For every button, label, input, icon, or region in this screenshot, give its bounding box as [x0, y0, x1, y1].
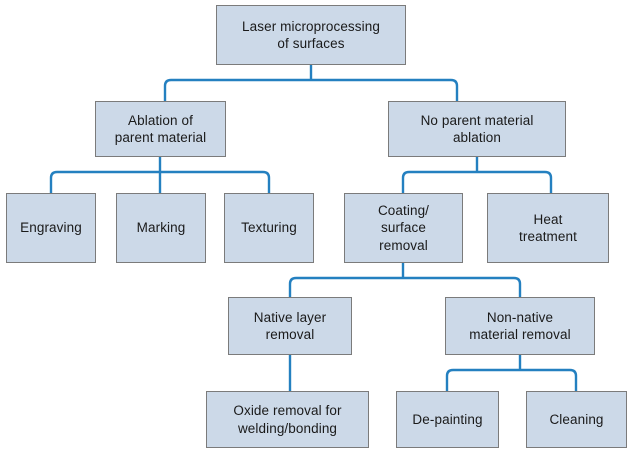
- node-label-heat-treatment: Heat treatment: [519, 211, 577, 246]
- node-cleaning[interactable]: Cleaning: [526, 391, 627, 448]
- node-label-root: Laser microprocessing of surfaces: [242, 18, 380, 53]
- node-ablation[interactable]: Ablation of parent material: [95, 101, 226, 157]
- node-oxide-removal[interactable]: Oxide removal for welding/bonding: [206, 391, 369, 448]
- node-label-oxide-removal: Oxide removal for welding/bonding: [233, 402, 341, 437]
- flowchart-diagram: Laser microprocessing of surfacesAblatio…: [0, 0, 640, 453]
- node-label-marking: Marking: [137, 219, 186, 236]
- connector-path-level1-right-split: [403, 157, 551, 193]
- node-label-ablation: Ablation of parent material: [115, 112, 207, 147]
- connector-path-coating-split: [290, 263, 520, 297]
- node-label-native-layer-removal: Native layer removal: [254, 309, 326, 344]
- connector-path-non-native-split: [447, 355, 576, 391]
- node-native-layer-removal[interactable]: Native layer removal: [228, 297, 352, 355]
- node-label-de-painting: De-painting: [412, 411, 482, 428]
- node-no-ablation[interactable]: No parent material ablation: [388, 101, 566, 157]
- node-label-coating-surface-removal: Coating/ surface removal: [378, 202, 429, 254]
- node-coating-surface-removal[interactable]: Coating/ surface removal: [344, 193, 463, 263]
- node-heat-treatment[interactable]: Heat treatment: [487, 193, 609, 263]
- node-de-painting[interactable]: De-painting: [396, 391, 499, 448]
- node-label-engraving: Engraving: [20, 219, 82, 236]
- node-label-cleaning: Cleaning: [549, 411, 603, 428]
- node-engraving[interactable]: Engraving: [6, 193, 96, 263]
- node-label-no-ablation: No parent material ablation: [421, 112, 534, 147]
- node-label-texturing: Texturing: [241, 219, 297, 236]
- node-texturing[interactable]: Texturing: [224, 193, 314, 263]
- node-root[interactable]: Laser microprocessing of surfaces: [216, 5, 406, 65]
- connector-path-root-split: [165, 65, 457, 101]
- connector-path-level1-left-split: [51, 157, 269, 193]
- node-label-non-native-material-removal: Non-native material removal: [469, 309, 570, 344]
- node-non-native-material-removal[interactable]: Non-native material removal: [445, 297, 595, 355]
- node-marking[interactable]: Marking: [116, 193, 206, 263]
